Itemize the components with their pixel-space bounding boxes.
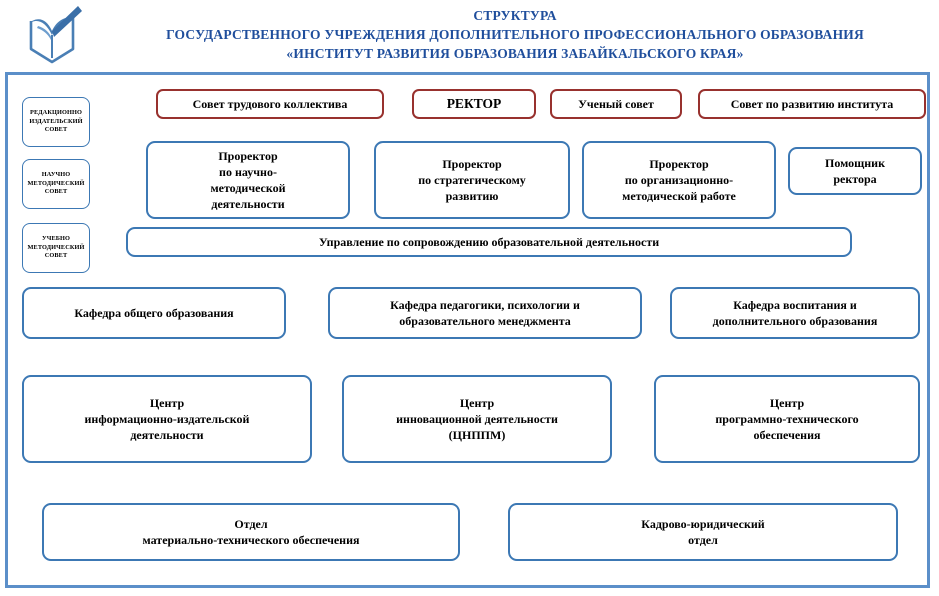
- node-label-line-1: Центр: [396, 395, 558, 411]
- diagram-frame: РЕДАКЦИОННО ИЗДАТЕЛЬСКИЙ СОВЕТ НАУЧНО МЕ…: [5, 72, 930, 588]
- node-vice-rector-strategic-development[interactable]: Проректор по стратегическому развитию: [374, 141, 570, 219]
- page-title-line-3: «ИНСТИТУТ РАЗВИТИЯ ОБРАЗОВАНИЯ ЗАБАЙКАЛЬ…: [96, 44, 934, 63]
- page-title: СТРУКТУРА ГОСУДАРСТВЕННОГО УЧРЕЖДЕНИЯ ДО…: [96, 6, 934, 63]
- page-title-line-1: СТРУКТУРА: [96, 6, 934, 25]
- page-header: СТРУКТУРА ГОСУДАРСТВЕННОГО УЧРЕЖДЕНИЯ ДО…: [0, 0, 939, 72]
- node-label-line-2: по научно-: [210, 164, 285, 180]
- node-label-line-2: ректора: [825, 171, 885, 187]
- node-department-hr-legal[interactable]: Кадрово-юридический отдел: [508, 503, 898, 561]
- node-label-line-2: по стратегическому: [418, 172, 526, 188]
- node-label-line-3: развитию: [418, 188, 526, 204]
- node-label: Совет трудового коллектива: [193, 96, 348, 112]
- node-label-line-1: Центр: [85, 395, 250, 411]
- council-line-3: СОВЕТ: [28, 252, 85, 260]
- node-label-line-1: Проректор: [210, 148, 285, 164]
- node-label-line-1: Отдел: [143, 516, 360, 532]
- structure-diagram-page: СТРУКТУРА ГОСУДАРСТВЕННОГО УЧРЕЖДЕНИЯ ДО…: [0, 0, 939, 596]
- node-center-software-technical-support[interactable]: Центр программно-технического обеспечени…: [654, 375, 920, 463]
- node-label: РЕКТОР: [447, 95, 502, 113]
- node-label-line-2: информационно-издательской: [85, 411, 250, 427]
- node-label-line-1: Кадрово-юридический: [641, 516, 764, 532]
- node-label-line-2: отдел: [641, 532, 764, 548]
- node-label-line-2: программно-технического: [715, 411, 858, 427]
- node-vice-rector-scientific-methodical[interactable]: Проректор по научно- методической деятел…: [146, 141, 350, 219]
- node-chair-pedagogy-psychology-management[interactable]: Кафедра педагогики, психологии и образов…: [328, 287, 642, 339]
- node-label-line-3: деятельности: [85, 427, 250, 443]
- node-label-line-1: Помощник: [825, 155, 885, 171]
- node-education-support-management[interactable]: Управление по сопровождению образователь…: [126, 227, 852, 257]
- node-chair-upbringing-additional-education[interactable]: Кафедра воспитания и дополнительного обр…: [670, 287, 920, 339]
- node-rector-assistant[interactable]: Помощник ректора: [788, 147, 922, 195]
- council-line-1: УЧЕБНО: [28, 235, 85, 243]
- page-title-line-2: ГОСУДАРСТВЕННОГО УЧРЕЖДЕНИЯ ДОПОЛНИТЕЛЬН…: [96, 25, 934, 44]
- council-line-1: РЕДАКЦИОННО: [29, 109, 82, 117]
- node-label-line-2: по организационно-: [622, 172, 736, 188]
- council-line-3: СОВЕТ: [28, 188, 85, 196]
- council-editorial-publishing[interactable]: РЕДАКЦИОННО ИЗДАТЕЛЬСКИЙ СОВЕТ: [22, 97, 90, 147]
- node-rector[interactable]: РЕКТОР: [412, 89, 536, 119]
- node-label-line-2: инновационной деятельности: [396, 411, 558, 427]
- institute-emblem-icon: [18, 4, 88, 68]
- council-line-2: МЕТОДИЧЕСКИЙ: [28, 244, 85, 252]
- node-label-line-3: (ЦНППМ): [396, 427, 558, 443]
- node-label-line-4: деятельности: [210, 196, 285, 212]
- node-label-line-1: Центр: [715, 395, 858, 411]
- node-label-line-2: материально-технического обеспечения: [143, 532, 360, 548]
- council-line-2: ИЗДАТЕЛЬСКИЙ: [29, 118, 82, 126]
- node-institute-development-council[interactable]: Совет по развитию института: [698, 89, 926, 119]
- node-label-line-3: методической работе: [622, 188, 736, 204]
- node-label-line-3: обеспечения: [715, 427, 858, 443]
- node-label-line-3: методической: [210, 180, 285, 196]
- node-label-line-1: Кафедра воспитания и: [713, 297, 878, 313]
- node-label: Ученый совет: [578, 96, 654, 112]
- node-center-information-publishing[interactable]: Центр информационно-издательской деятель…: [22, 375, 312, 463]
- node-label-line-1: Кафедра педагогики, психологии и: [390, 297, 580, 313]
- node-label-line-2: образовательного менеджмента: [390, 313, 580, 329]
- node-academic-council[interactable]: Ученый совет: [550, 89, 682, 119]
- council-line-2: МЕТОДИЧЕСКИЙ: [28, 180, 85, 188]
- node-label-line-1: Кафедра общего образования: [74, 305, 233, 321]
- node-label-line-2: дополнительного образования: [713, 313, 878, 329]
- node-vice-rector-organizational-methodical[interactable]: Проректор по организационно- методическо…: [582, 141, 776, 219]
- council-line-3: СОВЕТ: [29, 126, 82, 134]
- node-center-innovation[interactable]: Центр инновационной деятельности (ЦНППМ): [342, 375, 612, 463]
- node-labor-collective-council[interactable]: Совет трудового коллектива: [156, 89, 384, 119]
- node-label-line-1: Проректор: [622, 156, 736, 172]
- council-line-1: НАУЧНО: [28, 171, 85, 179]
- council-scientific-methodical[interactable]: НАУЧНО МЕТОДИЧЕСКИЙ СОВЕТ: [22, 159, 90, 209]
- node-label: Совет по развитию института: [731, 96, 894, 112]
- node-chair-general-education[interactable]: Кафедра общего образования: [22, 287, 286, 339]
- node-label: Управление по сопровождению образователь…: [319, 234, 659, 250]
- node-label-line-1: Проректор: [418, 156, 526, 172]
- node-department-material-technical-support[interactable]: Отдел материально-технического обеспечен…: [42, 503, 460, 561]
- council-educational-methodical[interactable]: УЧЕБНО МЕТОДИЧЕСКИЙ СОВЕТ: [22, 223, 90, 273]
